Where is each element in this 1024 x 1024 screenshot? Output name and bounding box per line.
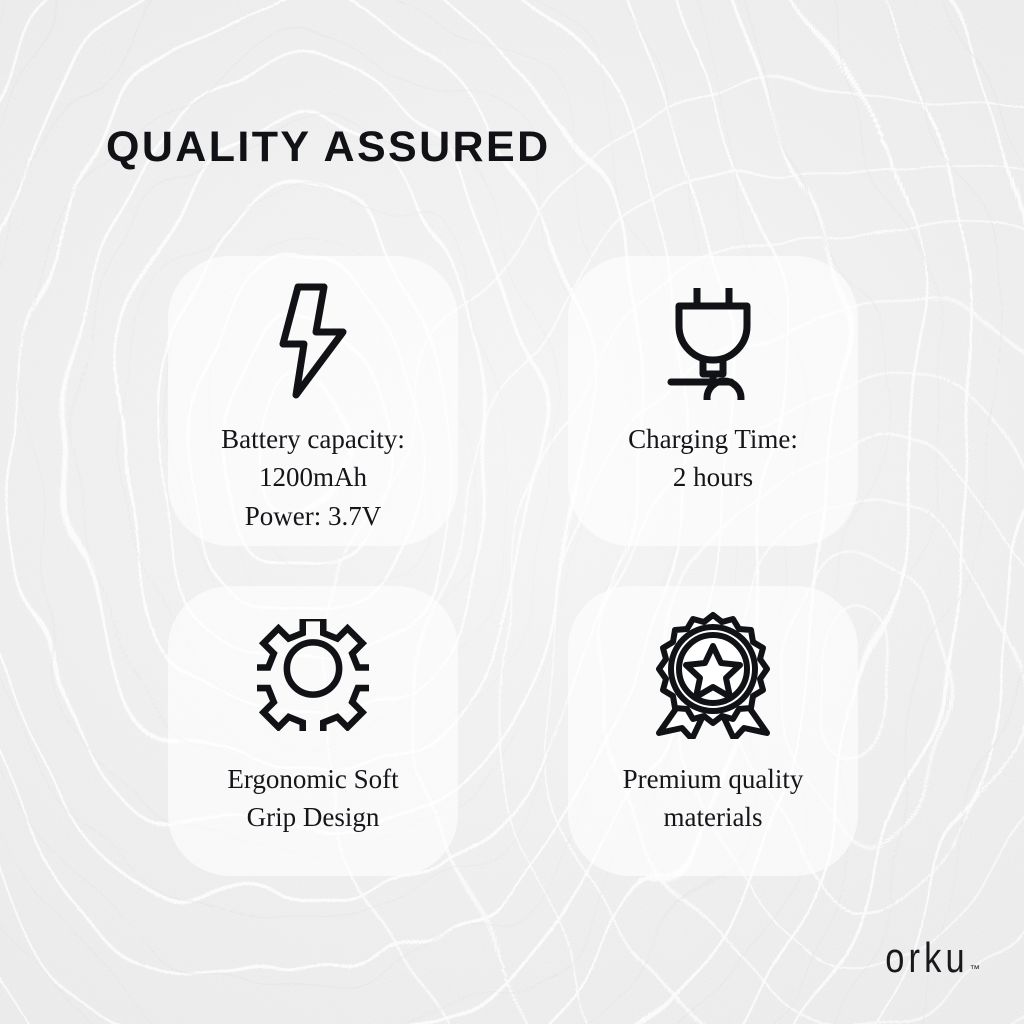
lightning-bolt-icon	[274, 278, 352, 404]
feature-card-battery: Battery capacity: 1200mAh Power: 3.7V	[168, 256, 458, 546]
card-line: Power: 3.7V	[176, 497, 450, 535]
card-line: Battery capacity:	[176, 420, 450, 458]
award-rosette-icon	[651, 612, 775, 738]
brand-logo: orku ™	[867, 939, 980, 978]
feature-card-grip-text: Ergonomic Soft Grip Design	[168, 760, 458, 837]
feature-card-battery-text: Battery capacity: 1200mAh Power: 3.7V	[168, 420, 458, 535]
quality-assured-poster: QUALITY ASSURED Battery capacity: 1200mA…	[0, 0, 1024, 1024]
card-line: materials	[576, 798, 850, 836]
card-line: Charging Time:	[576, 420, 850, 458]
feature-card-charging-text: Charging Time: 2 hours	[568, 420, 858, 497]
page-title: QUALITY ASSURED	[106, 126, 551, 169]
card-line: Grip Design	[176, 798, 450, 836]
feature-card-grip: Ergonomic Soft Grip Design	[168, 586, 458, 876]
feature-card-charging: Charging Time: 2 hours	[568, 256, 858, 546]
card-line: 1200mAh	[176, 458, 450, 496]
card-line: Ergonomic Soft	[176, 760, 450, 798]
gear-icon	[257, 612, 369, 738]
brand-name: orku	[885, 939, 968, 978]
card-line: 2 hours	[576, 458, 850, 496]
trademark-symbol: ™	[970, 964, 980, 975]
feature-card-premium: Premium quality materials	[568, 586, 858, 876]
feature-card-premium-text: Premium quality materials	[568, 760, 858, 837]
card-line: Premium quality	[576, 760, 850, 798]
power-plug-icon	[657, 278, 769, 404]
